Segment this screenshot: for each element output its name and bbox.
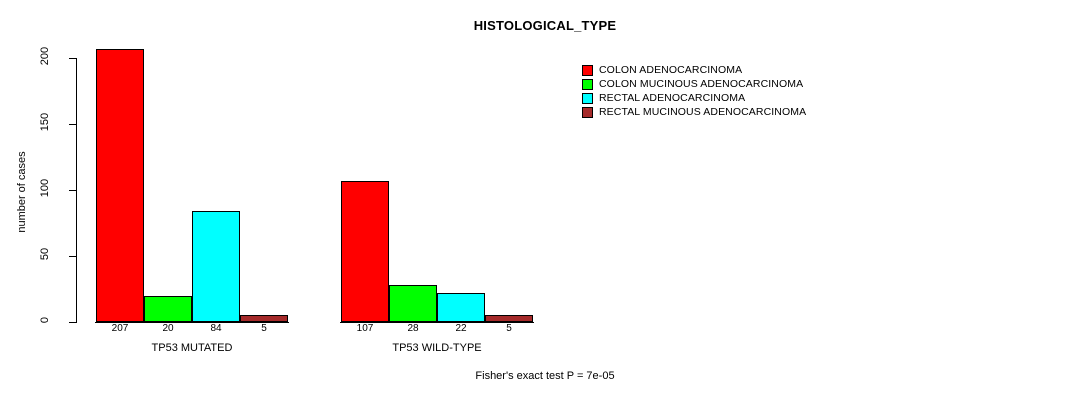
y-axis-tick-mark <box>69 190 76 191</box>
bar-count-label: 20 <box>144 322 192 336</box>
bar <box>389 285 437 322</box>
y-axis-label: number of cases <box>16 132 28 252</box>
y-axis-tick-label: 0 <box>39 305 51 335</box>
bar <box>144 296 192 322</box>
statistical-test-annotation: Fisher's exact test P = 7e-05 <box>0 370 1090 382</box>
legend-item: RECTAL ADENOCARCINOMA <box>582 91 806 105</box>
bar-count-label: 22 <box>437 322 485 336</box>
y-axis-tick-label: 100 <box>39 173 51 203</box>
y-axis-tick-mark <box>69 256 76 257</box>
bar <box>437 293 485 322</box>
legend-item: COLON ADENOCARCINOMA <box>582 63 806 77</box>
bar <box>341 181 389 322</box>
group-axis-label: TP53 MUTATED <box>96 342 288 354</box>
y-axis-tick-label: 200 <box>39 41 51 71</box>
y-axis-tick-label: 150 <box>39 107 51 137</box>
y-axis-line <box>76 58 77 323</box>
bar <box>240 315 288 322</box>
group-baseline <box>95 322 289 323</box>
y-axis-tick-mark <box>69 322 76 323</box>
group-axis-label: TP53 WILD-TYPE <box>341 342 533 354</box>
bar-count-label: 107 <box>341 322 389 336</box>
bar <box>96 49 144 322</box>
bar <box>485 315 533 322</box>
legend: COLON ADENOCARCINOMACOLON MUCINOUS ADENO… <box>582 63 806 119</box>
y-axis-tick-mark <box>69 58 76 59</box>
legend-item-label: COLON ADENOCARCINOMA <box>599 64 742 76</box>
plot-area: 200150100500 number of cases 20720845107… <box>0 0 600 400</box>
legend-item: COLON MUCINOUS ADENOCARCINOMA <box>582 77 806 91</box>
bar-count-label: 5 <box>240 322 288 336</box>
histological-type-bar-chart: HISTOLOGICAL_TYPE 200150100500 number of… <box>0 0 1090 400</box>
legend-color-swatch <box>582 93 593 104</box>
legend-item: RECTAL MUCINOUS ADENOCARCINOMA <box>582 105 806 119</box>
y-axis-tick-mark <box>69 124 76 125</box>
bar-count-label: 207 <box>96 322 144 336</box>
legend-item-label: RECTAL MUCINOUS ADENOCARCINOMA <box>599 106 806 118</box>
bar-count-label: 5 <box>485 322 533 336</box>
legend-color-swatch <box>582 65 593 76</box>
legend-color-swatch <box>582 107 593 118</box>
bar <box>192 211 240 322</box>
legend-item-label: RECTAL ADENOCARCINOMA <box>599 92 745 104</box>
bar-count-label: 28 <box>389 322 437 336</box>
bar-count-label: 84 <box>192 322 240 336</box>
legend-color-swatch <box>582 79 593 90</box>
legend-item-label: COLON MUCINOUS ADENOCARCINOMA <box>599 78 803 90</box>
y-axis-tick-label: 50 <box>39 239 51 269</box>
group-baseline <box>340 322 534 323</box>
